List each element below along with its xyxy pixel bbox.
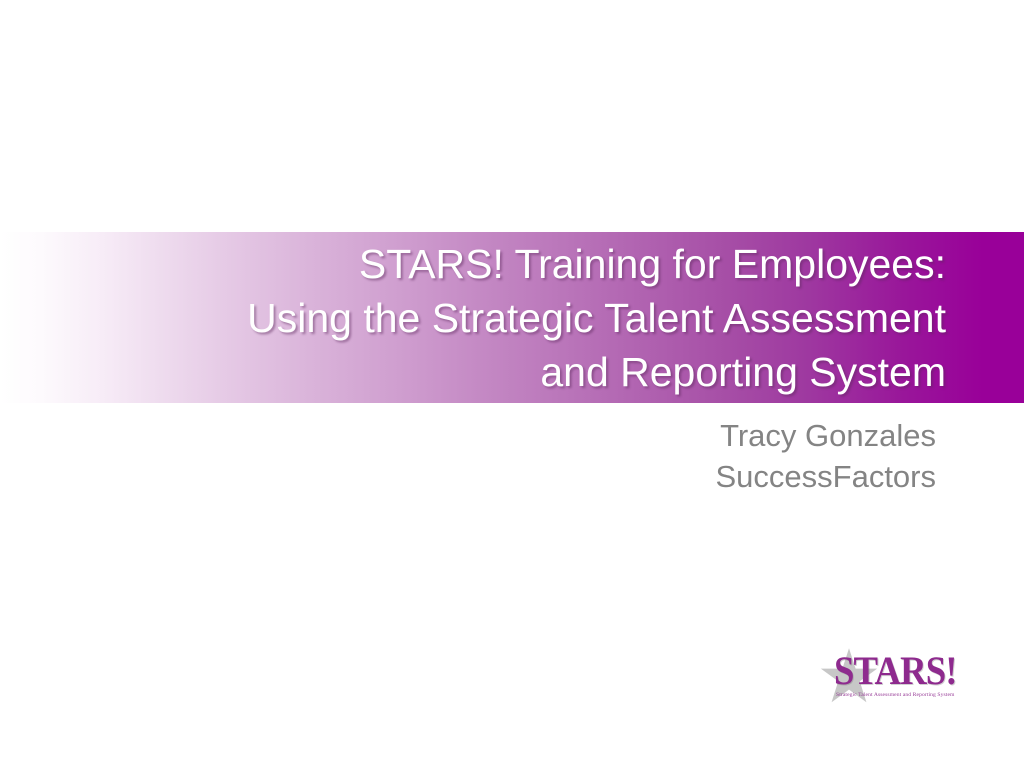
- stars-logo-tagline: Strategic Talent Assessment and Reportin…: [836, 692, 980, 699]
- title-line-2: Using the Strategic Talent Assessment: [247, 291, 946, 345]
- presenter-name: Tracy Gonzales: [0, 415, 936, 456]
- presenter-organization: SuccessFactors: [0, 456, 936, 497]
- stars-logo: STARS! Strategic Talent Assessment and R…: [818, 645, 980, 707]
- stars-logo-wordmark: STARS!: [834, 651, 968, 691]
- subtitle-block: Tracy Gonzales SuccessFactors: [0, 415, 1024, 497]
- presentation-title-slide: STARS! Training for Employees: Using the…: [0, 0, 1024, 768]
- title-banner: STARS! Training for Employees: Using the…: [0, 232, 1024, 403]
- title-line-3: and Reporting System: [540, 345, 946, 399]
- title-line-1: STARS! Training for Employees:: [359, 237, 946, 291]
- title-text-block: STARS! Training for Employees: Using the…: [0, 232, 1024, 403]
